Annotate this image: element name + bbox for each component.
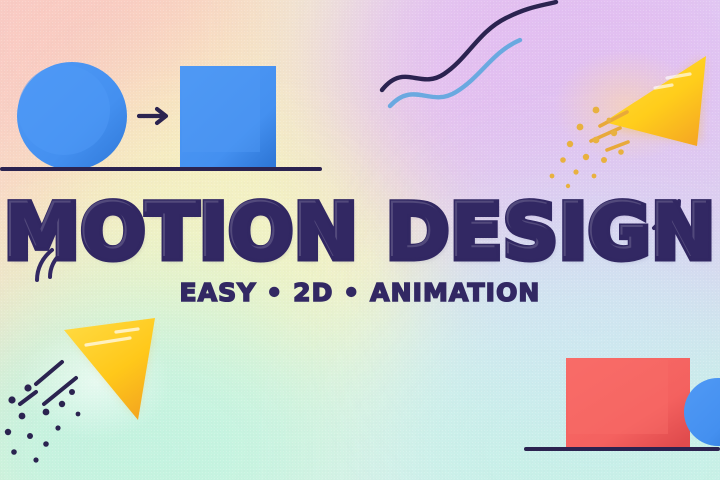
title-wrap: MOTION DESIGN	[4, 196, 716, 268]
page-title: MOTION DESIGN	[4, 196, 716, 268]
poster-copy: MOTION DESIGN EASY • 2D • ANIMATION	[0, 196, 720, 307]
poster-canvas: MOTION DESIGN EASY • 2D • ANIMATION	[0, 0, 720, 480]
page-subtitle: EASY • 2D • ANIMATION	[0, 278, 720, 307]
